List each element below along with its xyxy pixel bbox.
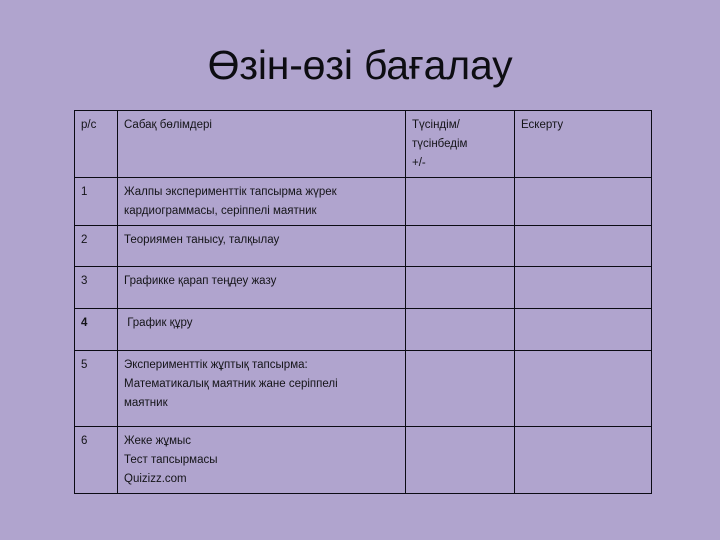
header-understood-line3: +/- xyxy=(412,154,510,173)
row-description: Эксперименттік жұптық тапсырма: Математи… xyxy=(118,351,406,427)
row-note-cell[interactable] xyxy=(515,178,652,226)
table-header-row: р/с Сабақ бөлімдері Түсіндім/ түсінбедім… xyxy=(75,111,652,178)
row-understood-cell[interactable] xyxy=(406,309,515,351)
row-description-line: кардиограммасы, серіппелі маятник xyxy=(124,202,401,221)
page-title: Өзін-өзі бағалау xyxy=(0,40,720,90)
row-description: Теориямен танысу, талқылау xyxy=(118,226,406,267)
row-description-line: Графикке қарап теңдеу жазу xyxy=(124,272,401,291)
table-row: 2 Теориямен танысу, талқылау xyxy=(75,226,652,267)
header-cell-note: Ескерту xyxy=(515,111,652,178)
row-description-line: Теориямен танысу, талқылау xyxy=(124,231,401,250)
header-understood-line2: түсінбедім xyxy=(412,135,510,154)
header-cell-understood: Түсіндім/ түсінбедім +/- xyxy=(406,111,515,178)
row-description: Жеке жұмыс Тест тапсырмасы Quizizz.com xyxy=(118,427,406,494)
row-description-line: Жеке жұмыс xyxy=(124,432,401,451)
row-number: 5 xyxy=(75,351,118,427)
row-number: 3 xyxy=(75,267,118,309)
row-number: 1 xyxy=(75,178,118,226)
header-cell-number: р/с xyxy=(75,111,118,178)
self-assessment-table-wrapper: р/с Сабақ бөлімдері Түсіндім/ түсінбедім… xyxy=(74,110,651,494)
row-description-line: Эксперименттік жұптық тапсырма: xyxy=(124,356,401,375)
header-cell-lesson-sections: Сабақ бөлімдері xyxy=(118,111,406,178)
table-row: 6 Жеке жұмыс Тест тапсырмасы Quizizz.com xyxy=(75,427,652,494)
header-understood-line1: Түсіндім/ xyxy=(412,116,510,135)
slide-canvas: Өзін-өзі бағалау р/с Сабақ бөлімдері Түс… xyxy=(0,0,720,540)
row-understood-cell[interactable] xyxy=(406,351,515,427)
row-description: Графикке қарап теңдеу жазу xyxy=(118,267,406,309)
row-description-line: Quizizz.com xyxy=(124,470,401,489)
table-row: 4 График құру xyxy=(75,309,652,351)
row-description-line: График құру xyxy=(124,314,401,333)
table-row: 3 Графикке қарап теңдеу жазу xyxy=(75,267,652,309)
row-description: График құру xyxy=(118,309,406,351)
row-note-cell[interactable] xyxy=(515,309,652,351)
row-understood-cell[interactable] xyxy=(406,267,515,309)
row-understood-cell[interactable] xyxy=(406,427,515,494)
row-description: Жалпы эксперименттік тапсырма жүрек кард… xyxy=(118,178,406,226)
row-note-cell[interactable] xyxy=(515,351,652,427)
row-understood-cell[interactable] xyxy=(406,178,515,226)
row-number: 4 xyxy=(75,309,118,351)
row-note-cell[interactable] xyxy=(515,226,652,267)
row-description-line: Жалпы эксперименттік тапсырма жүрек xyxy=(124,183,401,202)
row-description-line: маятник xyxy=(124,394,401,413)
table-row: 5 Эксперименттік жұптық тапсырма: Матема… xyxy=(75,351,652,427)
row-understood-cell[interactable] xyxy=(406,226,515,267)
row-note-cell[interactable] xyxy=(515,427,652,494)
row-description-line: Тест тапсырмасы xyxy=(124,451,401,470)
row-note-cell[interactable] xyxy=(515,267,652,309)
row-description-line: Математикалық маятник жане серіппелі xyxy=(124,375,401,394)
row-number: 6 xyxy=(75,427,118,494)
row-number: 2 xyxy=(75,226,118,267)
self-assessment-table: р/с Сабақ бөлімдері Түсіндім/ түсінбедім… xyxy=(74,110,652,494)
table-row: 1 Жалпы эксперименттік тапсырма жүрек ка… xyxy=(75,178,652,226)
